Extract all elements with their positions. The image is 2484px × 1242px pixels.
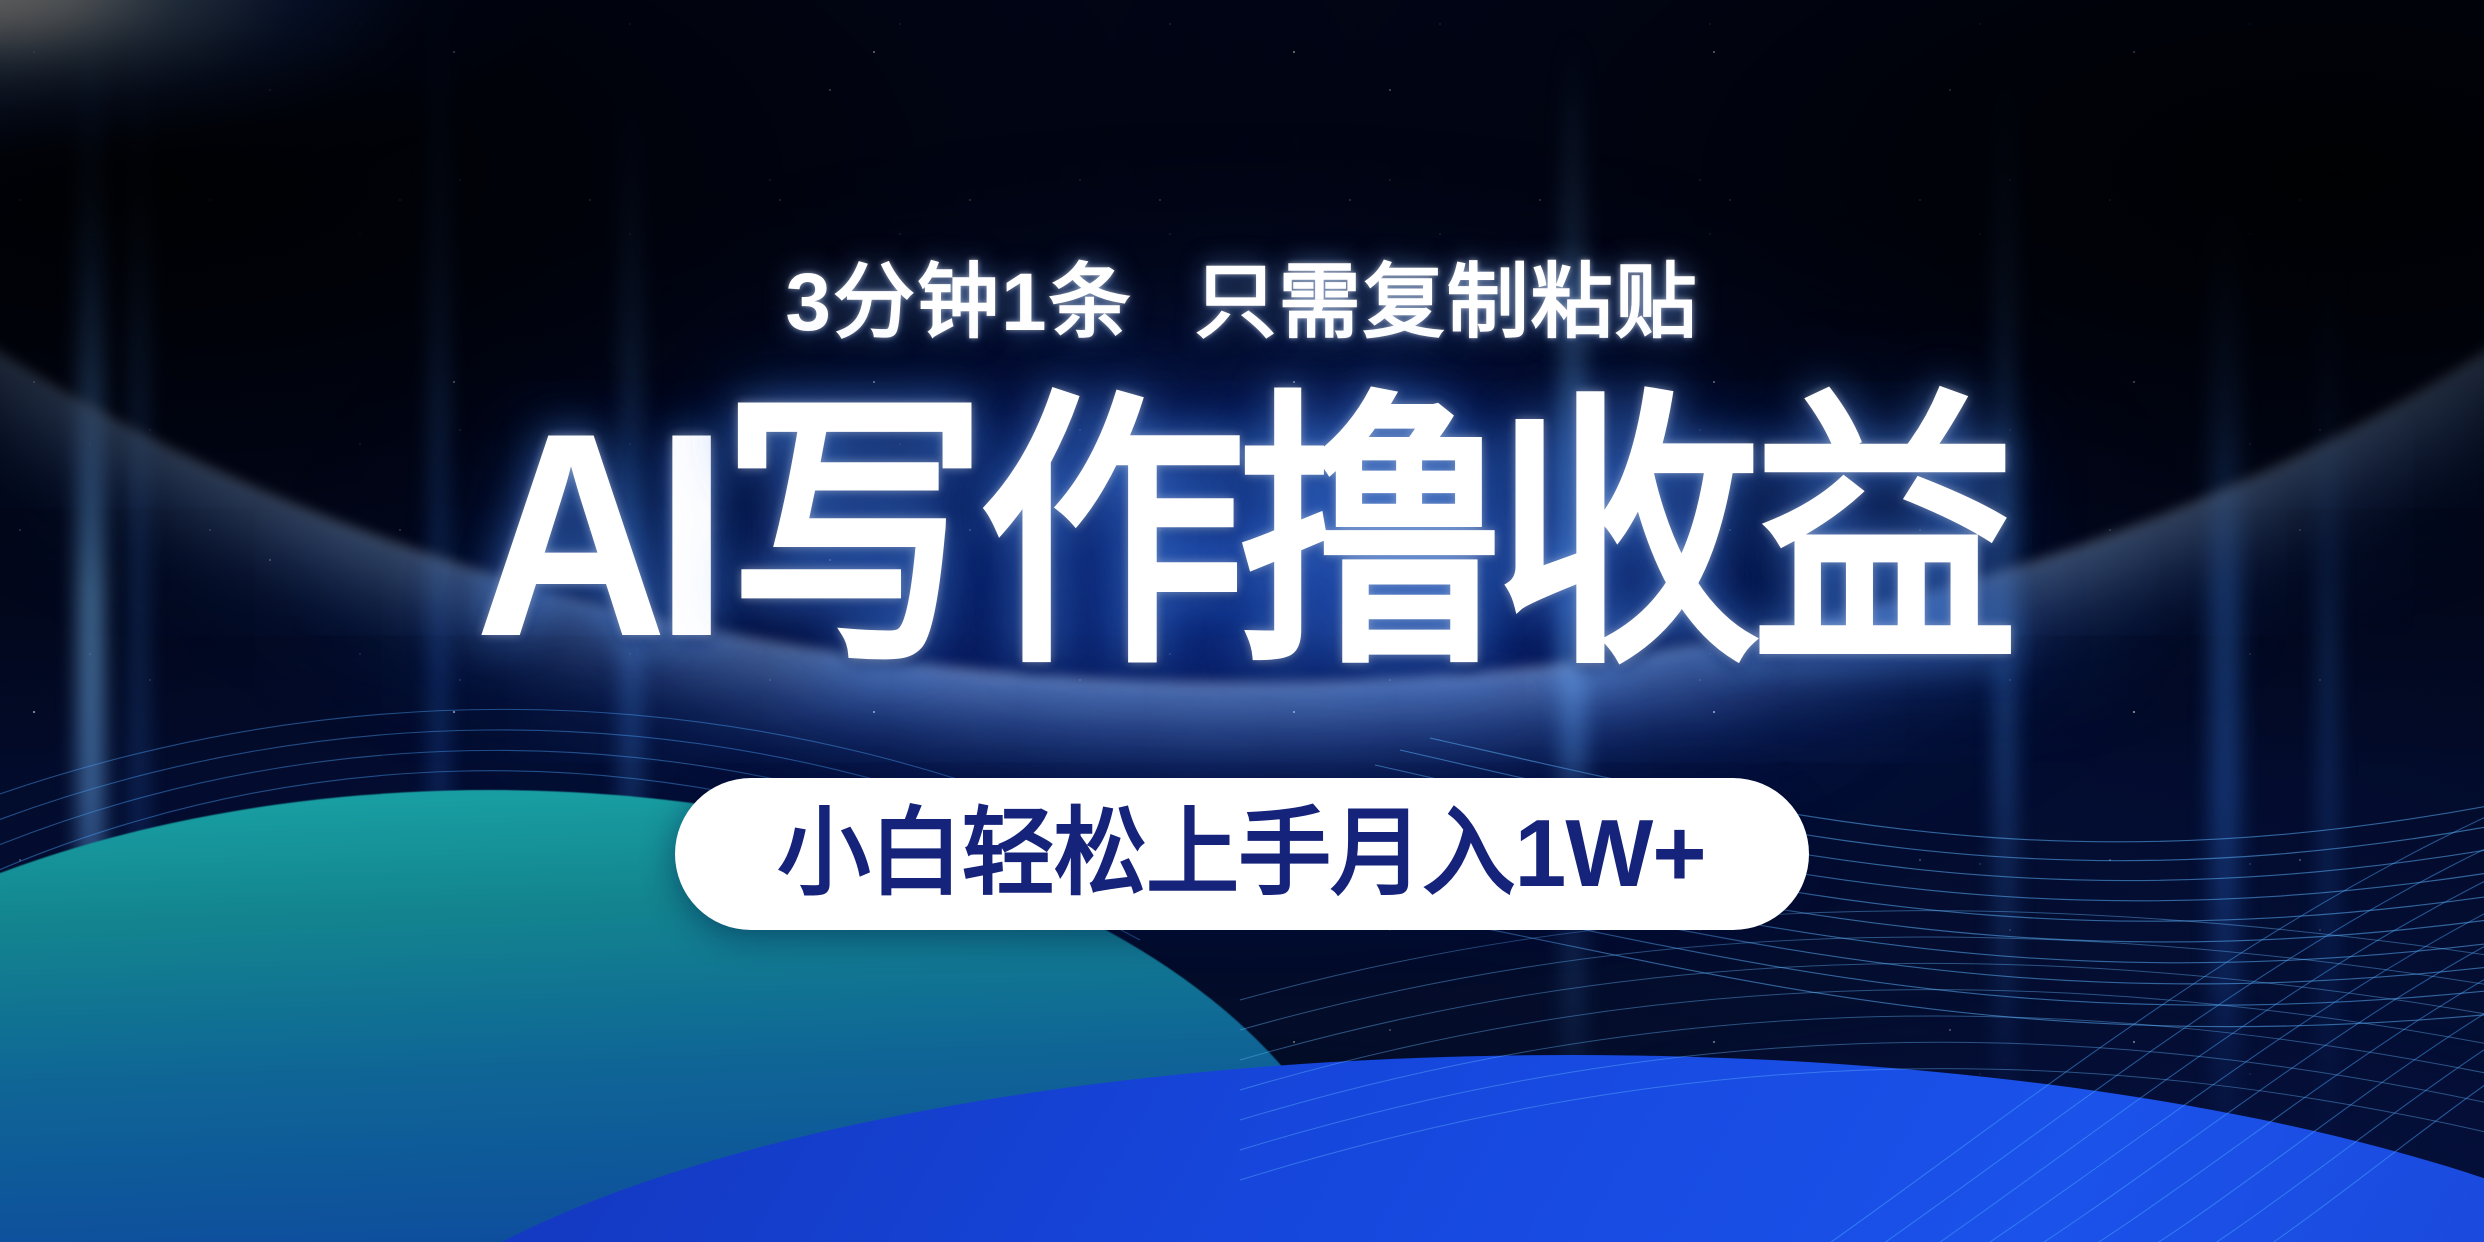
headline-inner: AI写作撸收益 bbox=[475, 390, 2010, 680]
subtitle-pill-text: 小白轻松上手月入1W+ bbox=[778, 806, 1706, 902]
headline-rest: 写作撸收益 bbox=[721, 373, 2009, 697]
kicker-part1: 3分钟1条 bbox=[785, 257, 1132, 348]
kicker-part2: 只需复制粘贴 bbox=[1195, 257, 1699, 348]
poster-canvas: 3分钟1条只需复制粘贴 AI写作撸收益 小白轻松上手月入1W+ bbox=[0, 0, 2484, 1242]
poster-content: 3分钟1条只需复制粘贴 AI写作撸收益 小白轻松上手月入1W+ bbox=[0, 0, 2484, 1242]
headline-ai-prefix: AI bbox=[475, 373, 722, 697]
kicker-line: 3分钟1条只需复制粘贴 bbox=[785, 262, 1698, 344]
subtitle-pill: 小白轻松上手月入1W+ bbox=[675, 778, 1809, 930]
headline: AI写作撸收益 bbox=[408, 390, 2076, 680]
